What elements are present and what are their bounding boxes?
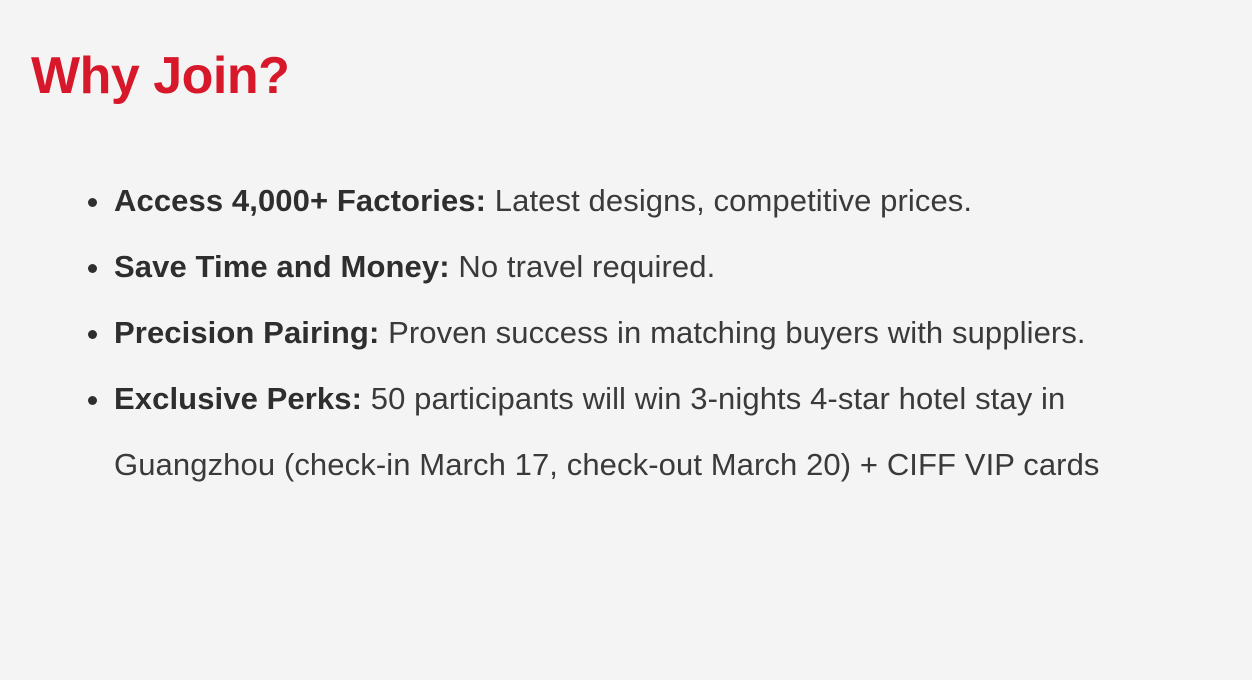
benefit-label: Access 4,000+ Factories: xyxy=(114,183,486,218)
benefits-list: Access 4,000+ Factories: Latest designs,… xyxy=(68,168,1223,498)
benefit-label: Save Time and Money: xyxy=(114,249,450,284)
list-item: Exclusive Perks: 50 participants will wi… xyxy=(68,366,1223,498)
benefit-label: Precision Pairing: xyxy=(114,315,379,350)
list-item: Precision Pairing: Proven success in mat… xyxy=(68,300,1223,366)
benefit-text: Proven success in matching buyers with s… xyxy=(388,315,1086,350)
benefit-label: Exclusive Perks: xyxy=(114,381,362,416)
slide-root: Why Join? Access 4,000+ Factories: Lates… xyxy=(0,0,1252,680)
benefit-text: Latest designs, competitive prices. xyxy=(495,183,972,218)
list-item: Access 4,000+ Factories: Latest designs,… xyxy=(68,168,1223,234)
benefit-text: No travel required. xyxy=(458,249,715,284)
page-title: Why Join? xyxy=(31,47,289,107)
list-item: Save Time and Money: No travel required. xyxy=(68,234,1223,300)
